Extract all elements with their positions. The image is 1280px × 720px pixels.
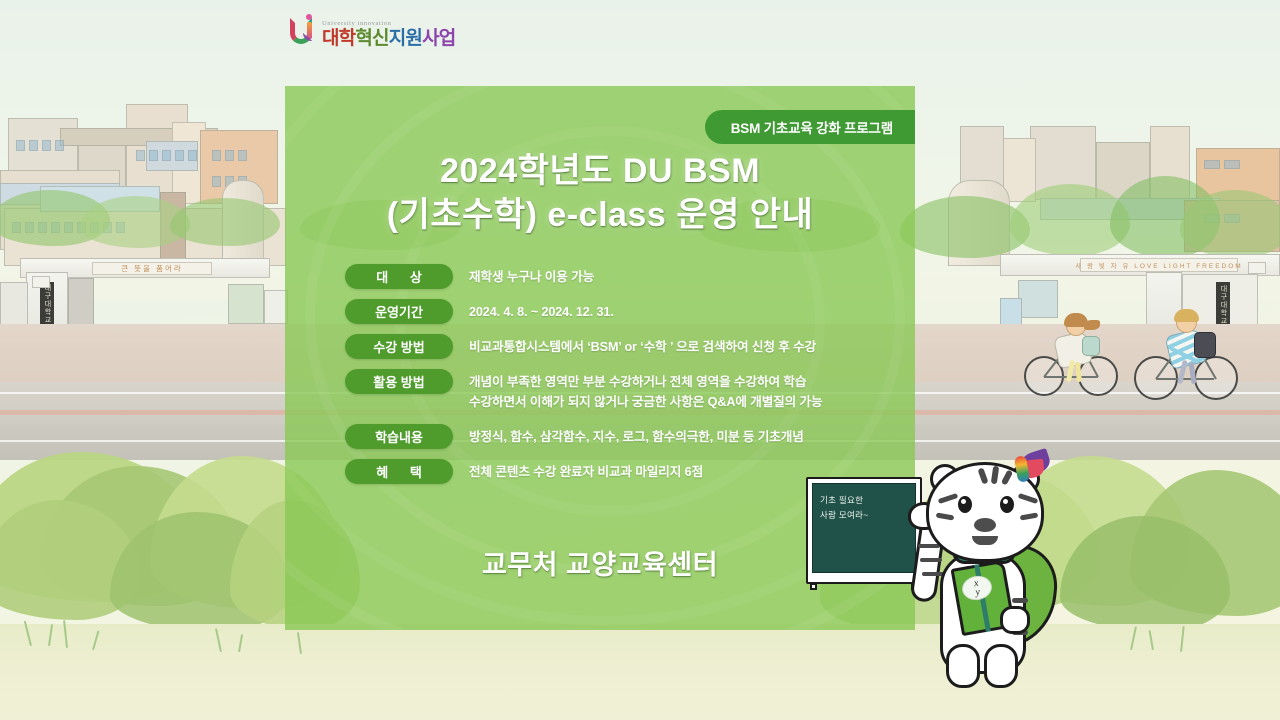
mascot-arm-stripe — [918, 544, 940, 548]
window — [225, 150, 234, 161]
page-title-line-1: 2024학년도 DU BSM — [285, 150, 915, 194]
blackboard-leg — [810, 583, 817, 590]
info-row: 수강 방법 비교과통합시스템에서 ‘BSM’ or ‘수학 ’ 으로 검색하여 … — [345, 334, 911, 360]
logo-j-dot-icon — [306, 14, 312, 20]
window — [149, 150, 158, 161]
info-table: 대 상 재학생 누구나 이용 가능 운영기간 2024. 4. 8. ~ 202… — [345, 264, 911, 494]
mascot-nose — [974, 518, 996, 532]
program-badge-label: BSM 기초교육 강화 프로그램 — [731, 121, 893, 136]
info-row: 운영기간 2024. 4. 8. ~ 2024. 12. 31. — [345, 299, 911, 325]
mascot-book-label-text: x y — [973, 578, 981, 597]
cyclist-ponytail — [1084, 320, 1100, 330]
window — [55, 140, 64, 151]
window-row — [16, 140, 64, 151]
logo-korean-seg-1: 대학 — [322, 28, 355, 49]
program-badge: BSM 기초교육 강화 프로그램 — [705, 110, 915, 144]
mascot-eye — [958, 496, 972, 513]
left-gate-sign: 대구대학교 — [40, 282, 54, 326]
window — [42, 140, 51, 151]
window-row — [212, 150, 247, 161]
left-gate-box — [32, 276, 50, 288]
info-row-label: 운영기간 — [345, 299, 453, 324]
logo-j-hook-icon — [303, 33, 312, 41]
info-row-label: 학습내용 — [345, 424, 453, 449]
window — [175, 150, 184, 161]
info-row-value: 비교과통합시스템에서 ‘BSM’ or ‘수학 ’ 으로 검색하여 신청 후 수… — [469, 334, 816, 357]
logo-korean-seg-3: 지원 — [389, 28, 422, 49]
poster-canvas: 큰 뜻을 품어라 대구대학교 사 랑 빛 자 유 LOVE LIGHT FREE… — [0, 0, 1280, 720]
info-row: 활용 방법 개념이 부족한 영역만 부분 수강하거나 전체 영역을 수강하여 학… — [345, 369, 911, 413]
logo-korean-seg-4: 사업 — [422, 28, 455, 49]
cyclist-backpack — [1082, 336, 1100, 356]
info-row: 학습내용 방정식, 함수, 삼각함수, 지수, 로그, 함수의극한, 미분 등 … — [345, 424, 911, 450]
window — [212, 150, 221, 161]
logo-korean-name: 대학혁신지원사업 — [322, 29, 456, 48]
window-row — [1204, 160, 1240, 169]
university-innovation-logo: University innovation 대학혁신지원사업 — [290, 14, 456, 48]
info-row-value: 재학생 누구나 이용 가능 — [469, 264, 594, 287]
left-gate-plaque: 큰 뜻을 품어라 — [92, 262, 212, 275]
cyclist-hair — [1174, 309, 1199, 322]
right-gate-plaque-text: 사 랑 빛 자 유 LOVE LIGHT FREEDOM — [1075, 260, 1242, 270]
window — [1224, 160, 1240, 169]
logo-text-block: University innovation 대학혁신지원사업 — [322, 21, 456, 49]
page-title: 2024학년도 DU BSM (기초수학) e-class 운영 안내 — [285, 150, 915, 237]
window-row — [136, 150, 197, 161]
info-row-label: 활용 방법 — [345, 369, 453, 394]
window — [16, 140, 25, 151]
left-gate-plaque-text: 큰 뜻을 품어라 — [121, 263, 183, 274]
info-row-label: 대 상 — [345, 264, 453, 289]
mascot-arm-stripe — [920, 558, 942, 562]
left-gate-sign-text: 대구대학교 — [42, 284, 52, 324]
info-row-value: 전체 콘텐츠 수강 완료자 비교과 마일리지 6점 — [469, 459, 703, 482]
window — [238, 150, 247, 161]
cyclist-left — [1022, 300, 1132, 410]
cyclist-backpack — [1194, 332, 1216, 358]
mascot-body-stripe — [1012, 598, 1028, 603]
bicycle-frame — [1156, 378, 1214, 380]
logo-j-shape-icon — [303, 14, 314, 44]
info-row: 대 상 재학생 누구나 이용 가능 — [345, 264, 911, 290]
info-row-value: 2024. 4. 8. ~ 2024. 12. 31. — [469, 299, 614, 322]
window — [188, 150, 197, 161]
info-row-value: 방정식, 함수, 삼각함수, 지수, 로그, 함수의극한, 미분 등 기초개념 — [469, 424, 804, 447]
info-row-label: 수강 방법 — [345, 334, 453, 359]
window — [29, 140, 38, 151]
window — [1204, 160, 1220, 169]
page-title-line-2: (기초수학) e-class 운영 안내 — [285, 194, 915, 238]
white-tiger-mascot: x y — [896, 448, 1116, 708]
logo-korean-seg-2: 혁신 — [355, 28, 388, 49]
info-row-label: 혜 택 — [345, 459, 453, 484]
left-gate-booth — [228, 284, 264, 324]
tree-foliage — [170, 198, 280, 246]
window — [136, 150, 145, 161]
info-row-value: 개념이 부족한 영역만 부분 수강하거나 전체 영역을 수강하여 학습 수강하면… — [469, 369, 823, 413]
mascot-leg — [984, 644, 1018, 688]
right-gate-box — [1248, 262, 1266, 274]
uj-logo-mark-icon — [290, 14, 316, 48]
mascot-hand — [1000, 606, 1030, 634]
mascot-leg — [946, 644, 980, 688]
window — [212, 176, 221, 187]
window — [162, 150, 171, 161]
mascot-eye — [1000, 496, 1014, 513]
logo-english-tagline: University innovation — [322, 21, 456, 28]
cyclist-right — [1132, 298, 1252, 414]
right-gate-plaque: 사 랑 빛 자 유 LOVE LIGHT FREEDOM — [1080, 258, 1238, 272]
